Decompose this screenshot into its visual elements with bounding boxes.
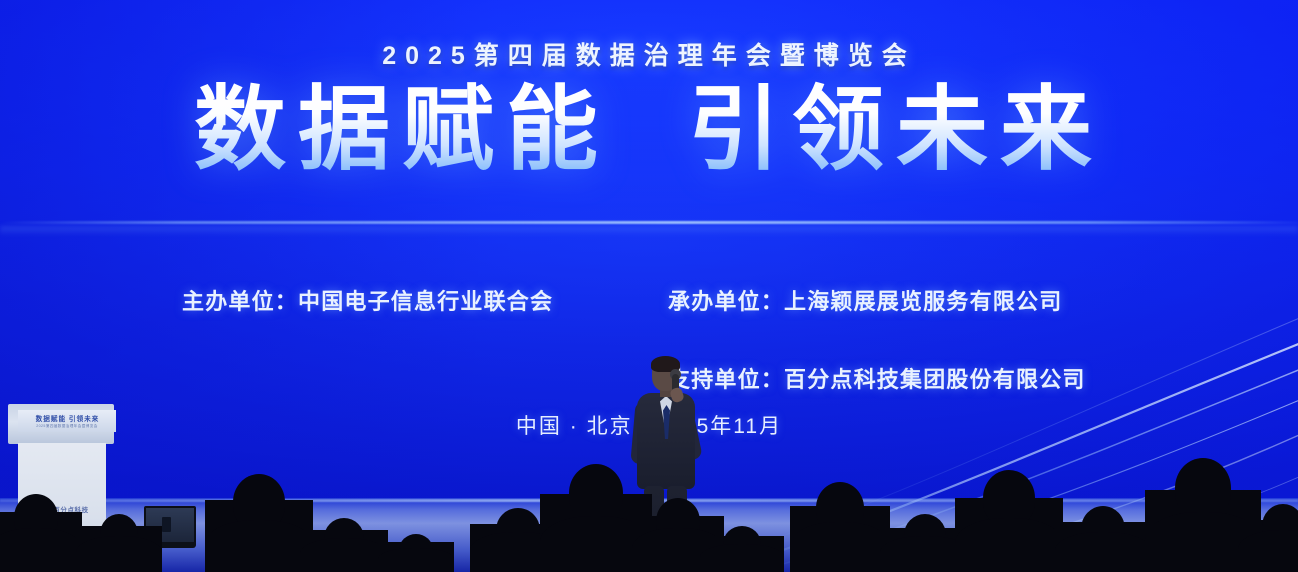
audience-member [76, 526, 162, 572]
audience-member [300, 530, 388, 572]
organizations-row-2: 支持单位：百分点科技集团股份有限公司 [0, 323, 1298, 362]
laptop-screen-content [162, 517, 171, 532]
event-subtitle: 2025第四届数据治理年会暨博览会 [0, 36, 1298, 72]
audience-member [700, 536, 784, 572]
podium-banner-headline: 数据赋能 引领未来 [35, 414, 99, 424]
audience-member [1055, 522, 1151, 572]
audience-member [1238, 520, 1298, 572]
conference-stage-photo: 2025第四届数据治理年会暨博览会 数据赋能引领未来 主办单位：中国电子信息行业… [0, 0, 1298, 572]
event-headline: 数据赋能引领未来 [0, 78, 1298, 183]
headline-underline [0, 221, 1298, 224]
podium-banner-subtitle: 2025第四届数据治理年会暨博览会 [36, 424, 98, 429]
organizations-row-1: 主办单位：中国电子信息行业联合会 承办单位：上海颖展展览服务有限公司 [0, 284, 1298, 323]
audience-member [955, 498, 1063, 572]
organizer-organization: 承办单位：上海颖展展览服务有限公司 [668, 284, 1062, 316]
organizations-block: 主办单位：中国电子信息行业联合会 承办单位：上海颖展展览服务有限公司 支持单位：… [0, 284, 1298, 362]
host-organization: 主办单位：中国电子信息行业联合会 [182, 284, 553, 316]
audience-member [790, 506, 890, 572]
headline-underline-glow [0, 226, 1298, 236]
audience-member [205, 500, 313, 572]
podium-top: 数据赋能 引领未来 2025第四届数据治理年会暨博览会 [8, 404, 114, 444]
headline-phrase-left: 数据赋能 [194, 79, 610, 181]
audience-silhouettes [0, 462, 1298, 572]
supporter-organization: 支持单位：百分点科技集团股份有限公司 [668, 362, 1086, 394]
headline-phrase-right: 引领未来 [688, 79, 1104, 181]
podium-banner: 数据赋能 引领未来 2025第四届数据治理年会暨博览会 [18, 410, 116, 432]
audience-member [0, 512, 82, 572]
audience-member [378, 542, 454, 572]
